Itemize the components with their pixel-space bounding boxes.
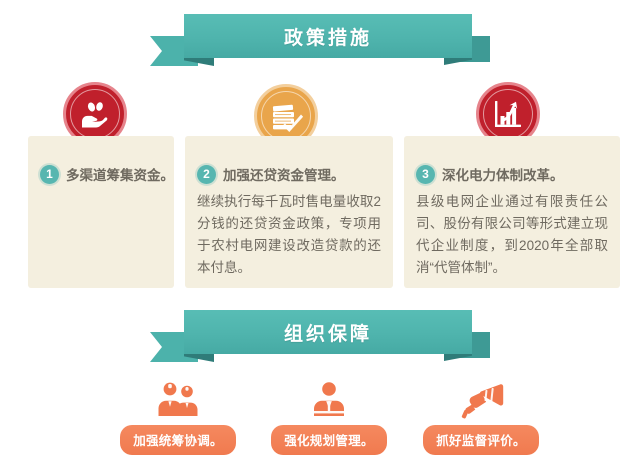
measure-card-1: 1 多渠道筹集资金。 — [28, 136, 174, 288]
measure-number-badge: 1 — [40, 165, 59, 184]
banner-organizational-guarantee: 组织保障 — [150, 310, 490, 354]
guarantee-label: 强化规划管理。 — [271, 425, 387, 455]
guarantee-item-coordination: 加强统筹协调。 — [113, 378, 243, 455]
banner-band: 政策措施 — [184, 14, 472, 58]
measure-card-header: 1 多渠道筹集资金。 — [40, 164, 162, 184]
measure-card-header: 3 深化电力体制改革。 — [416, 164, 608, 184]
guarantee-label: 加强统筹协调。 — [120, 425, 236, 455]
banner-band: 组织保障 — [184, 310, 472, 354]
megaphone-icon — [416, 378, 546, 420]
measure-card-header: 2 加强还贷资金管理。 — [197, 164, 381, 184]
banner-title: 组织保障 — [284, 319, 372, 346]
measure-title: 深化电力体制改革。 — [442, 164, 564, 184]
two-people-icon — [113, 378, 243, 420]
businessman-icon — [264, 378, 394, 420]
measure-number-badge: 3 — [416, 165, 435, 184]
measure-number-badge: 2 — [197, 165, 216, 184]
guarantee-item-planning: 强化规划管理。 — [264, 378, 394, 455]
measure-body: 继续执行每千瓦时售电量收取2分钱的还贷资金政策，专项用于农村电网建设改造贷款的还… — [197, 191, 381, 278]
measure-card-2: 2 加强还贷资金管理。 继续执行每千瓦时售电量收取2分钱的还贷资金政策，专项用于… — [185, 136, 393, 288]
measure-title: 加强还贷资金管理。 — [223, 164, 345, 184]
measure-card-3: 3 深化电力体制改革。 县级电网企业通过有限责任公司、股份有限公司等形式建立现代… — [404, 136, 620, 288]
measure-title: 多渠道筹集资金。 — [66, 164, 174, 184]
banner-title: 政策措施 — [284, 23, 372, 50]
guarantee-label: 抓好监督评价。 — [423, 425, 539, 455]
measure-body: 县级电网企业通过有限责任公司、股份有限公司等形式建立现代企业制度，到2020年全… — [416, 191, 608, 278]
infographic-page: 政策措施 — [0, 0, 625, 465]
guarantee-item-supervision: 抓好监督评价。 — [416, 378, 546, 455]
banner-policy-measures: 政策措施 — [150, 14, 490, 58]
